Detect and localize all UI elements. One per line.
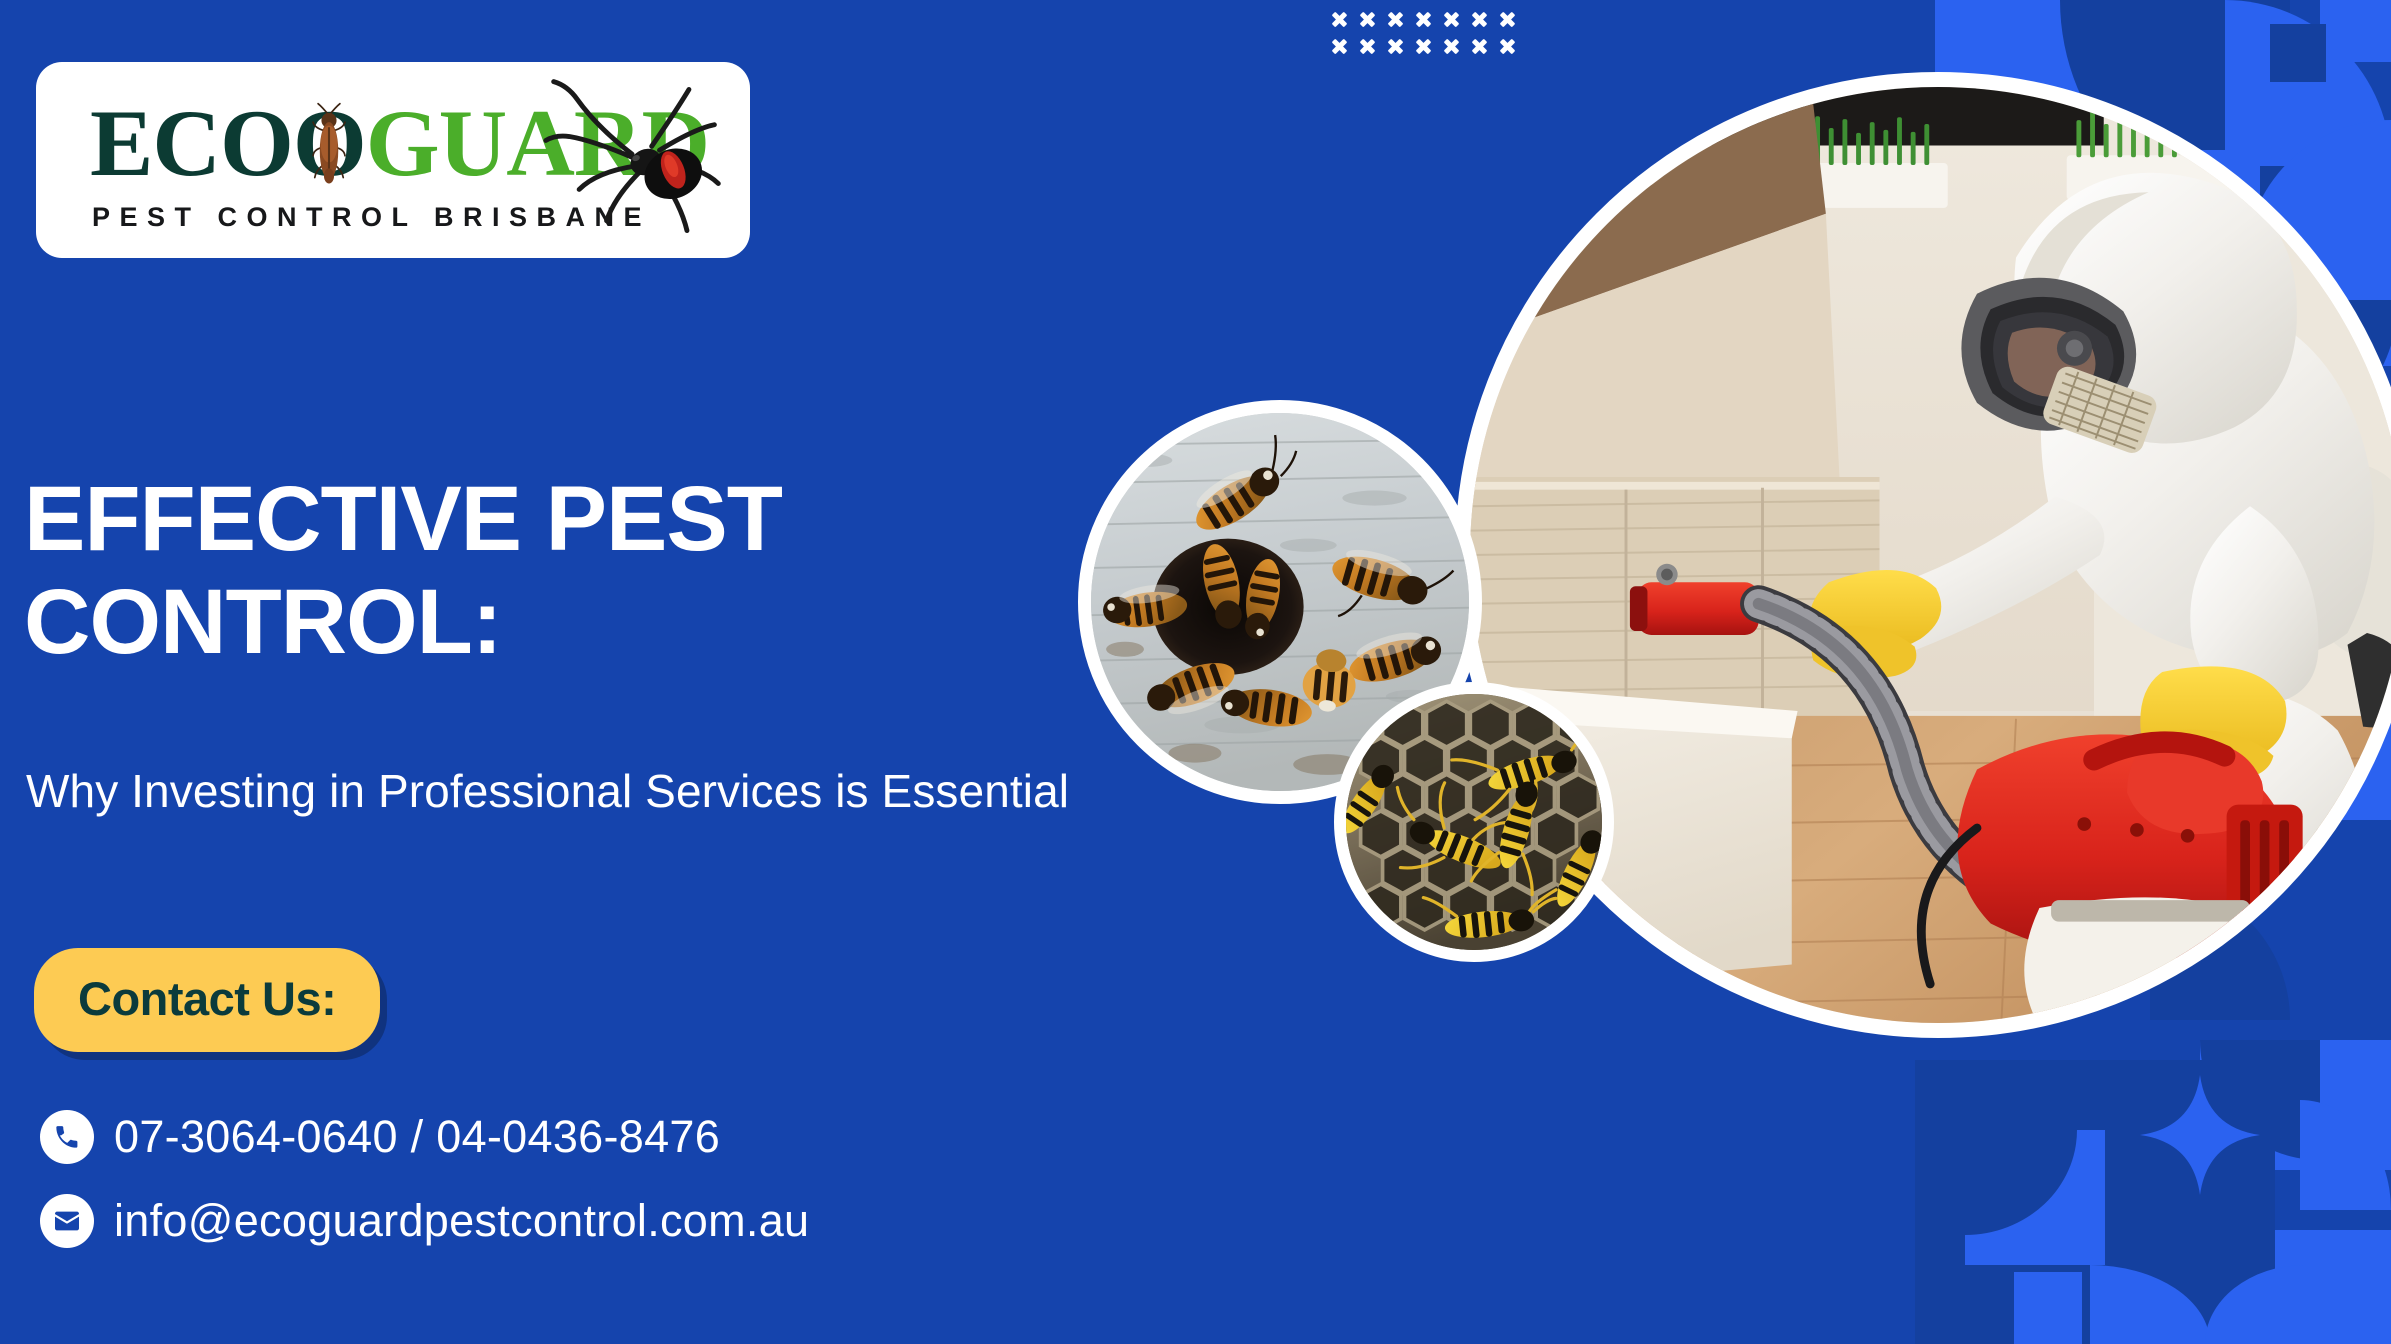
deco-shape: [2300, 1100, 2391, 1210]
cross-mark: [1355, 33, 1383, 60]
contact-row-phone[interactable]: 07-3064-0640 / 04-0436-8476: [40, 1110, 809, 1164]
headline-line-2: CONTROL:: [24, 571, 1144, 674]
deco-shape: [2090, 1265, 2210, 1344]
page-title: EFFECTIVE PEST CONTROL:: [24, 468, 1144, 674]
sparkle-icon: [2140, 1075, 2260, 1195]
logo-text-eco: ECO: [90, 90, 293, 196]
cross-mark: [1411, 33, 1439, 60]
contact-row-email[interactable]: info@ecoguardpestcontrol.com.au: [40, 1194, 809, 1248]
logo-letter-o-with-roach: O: [293, 96, 366, 191]
cross-mark: [1439, 6, 1467, 33]
deco-shape: [2205, 1265, 2305, 1344]
wasp-nest-photo: [1334, 682, 1614, 962]
deco-shape: [2200, 1040, 2320, 1160]
deco-shape: [2014, 1272, 2082, 1344]
cross-mark: [1411, 6, 1439, 33]
cross-mark: [1355, 6, 1383, 33]
cross-mark: [1495, 33, 1523, 60]
cross-mark: [1327, 6, 1355, 33]
deco-shape: [2270, 24, 2326, 82]
email-address: info@ecoguardpestcontrol.com.au: [114, 1195, 809, 1247]
phone-icon: [40, 1110, 94, 1164]
deco-shape: [1965, 1130, 2105, 1265]
cross-mark: [1383, 33, 1411, 60]
cross-dot-pattern: [1327, 6, 1523, 60]
cross-mark: [1495, 6, 1523, 33]
promotional-banner: ECOO GUARD PEST CONTROL BRISBANE: [0, 0, 2391, 1344]
headline-line-1: EFFECTIVE PEST: [24, 468, 1144, 571]
deco-shape: [2120, 1230, 2391, 1344]
cross-mark: [1383, 6, 1411, 33]
page-subtitle: Why Investing in Professional Services i…: [26, 764, 1069, 818]
envelope-icon: [40, 1194, 94, 1248]
deco-shape: [1965, 1130, 2077, 1235]
deco-shape: [2120, 1230, 2240, 1344]
deco-shape: [2200, 1040, 2391, 1170]
redback-spider-icon: [536, 64, 736, 258]
cross-mark: [1439, 33, 1467, 60]
cross-mark: [1467, 6, 1495, 33]
deco-shape: [1915, 1060, 2275, 1344]
cross-mark: [1327, 33, 1355, 60]
logo-letter-o: O: [293, 90, 366, 196]
cross-mark: [1467, 33, 1495, 60]
company-logo-card[interactable]: ECOO GUARD PEST CONTROL BRISBANE: [36, 62, 750, 258]
deco-shape: [2320, 0, 2391, 62]
contact-us-button[interactable]: Contact Us:: [34, 948, 380, 1052]
phone-number: 07-3064-0640 / 04-0436-8476: [114, 1111, 720, 1163]
deco-shape: [1965, 1130, 2105, 1265]
contact-details: 07-3064-0640 / 04-0436-8476 info@ecoguar…: [40, 1110, 809, 1248]
